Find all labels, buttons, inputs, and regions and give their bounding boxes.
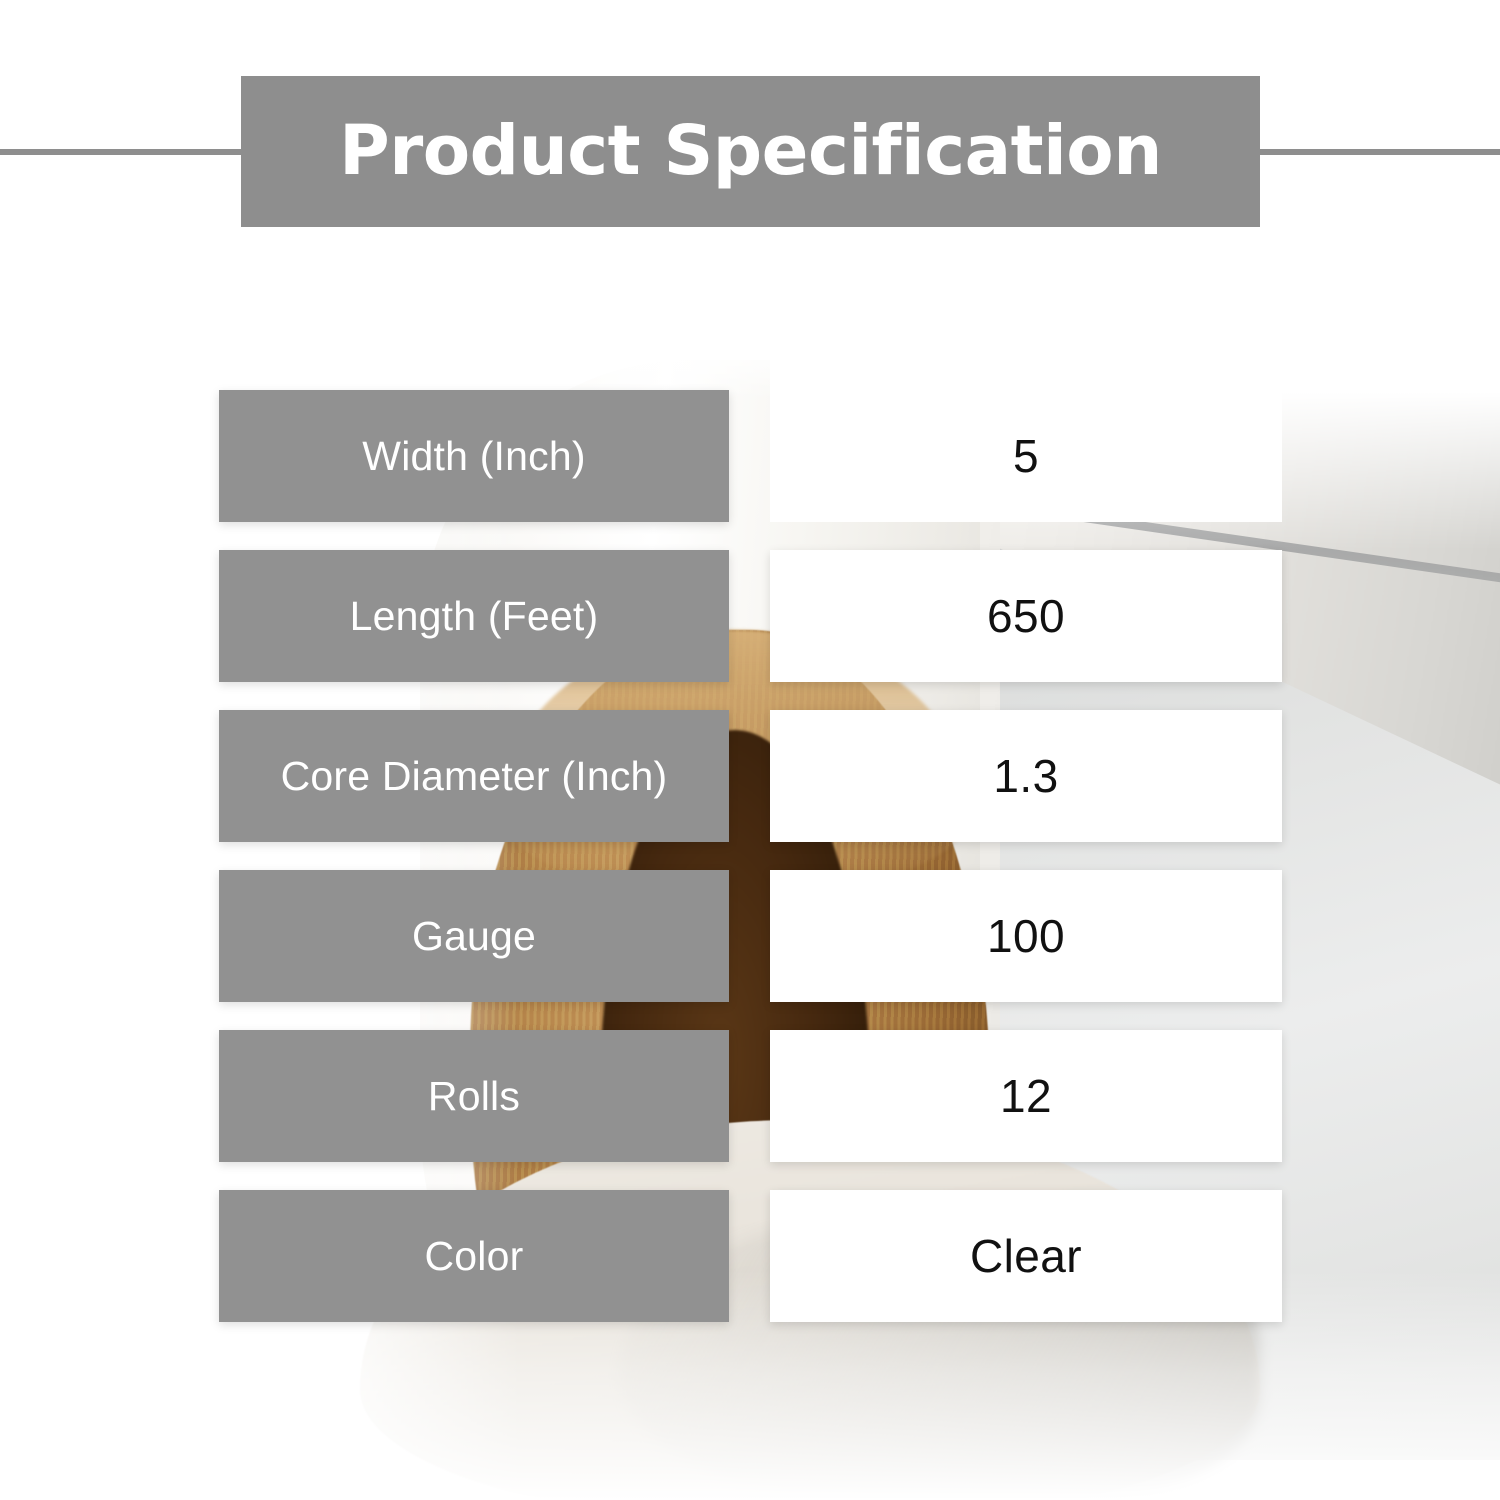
table-row: Length (Feet) 650 — [0, 550, 1500, 682]
spec-value-text: 1.3 — [993, 749, 1058, 803]
spec-label-text: Width (Inch) — [352, 434, 595, 478]
table-row: Color Clear — [0, 1190, 1500, 1322]
specification-table: Width (Inch) 5 Length (Feet) 650 Core Di… — [0, 390, 1500, 1350]
spec-value-color: Clear — [770, 1190, 1282, 1322]
spec-label-core-diameter: Core Diameter (Inch) — [219, 710, 729, 842]
spec-label-text: Core Diameter (Inch) — [271, 754, 678, 798]
spec-value-rolls: 12 — [770, 1030, 1282, 1162]
spec-label-rolls: Rolls — [219, 1030, 729, 1162]
spec-value-text: 100 — [987, 909, 1065, 963]
spec-label-length: Length (Feet) — [219, 550, 729, 682]
spec-label-color: Color — [219, 1190, 729, 1322]
spec-value-gauge: 100 — [770, 870, 1282, 1002]
spec-value-text: 12 — [1000, 1069, 1052, 1123]
spec-value-text: 5 — [1013, 429, 1039, 483]
spec-label-width: Width (Inch) — [219, 390, 729, 522]
spec-label-text: Length (Feet) — [340, 594, 609, 638]
spec-label-text: Rolls — [418, 1074, 530, 1118]
spec-value-width: 5 — [770, 390, 1282, 522]
spec-value-text: 650 — [987, 589, 1065, 643]
spec-value-core-diameter: 1.3 — [770, 710, 1282, 842]
page-title: Product Specification — [339, 117, 1162, 186]
table-row: Core Diameter (Inch) 1.3 — [0, 710, 1500, 842]
table-row: Width (Inch) 5 — [0, 390, 1500, 522]
spec-label-gauge: Gauge — [219, 870, 729, 1002]
product-specification-card: Product Specification Width (Inch) 5 Len… — [0, 0, 1500, 1500]
spec-label-text: Color — [415, 1234, 534, 1278]
spec-label-text: Gauge — [402, 914, 546, 958]
spec-value-length: 650 — [770, 550, 1282, 682]
spec-value-text: Clear — [970, 1229, 1082, 1283]
header-banner: Product Specification — [241, 76, 1260, 227]
table-row: Gauge 100 — [0, 870, 1500, 1002]
table-row: Rolls 12 — [0, 1030, 1500, 1162]
